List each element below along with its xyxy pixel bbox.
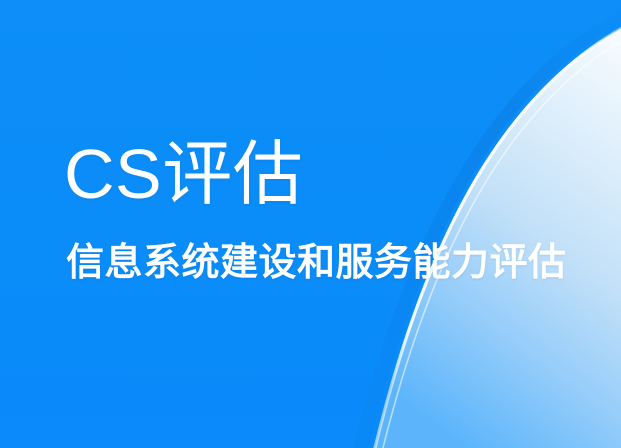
cs-assessment-banner: CS评估 信息系统建设和服务能力评估 xyxy=(0,0,621,448)
decorative-arc-swoosh xyxy=(0,0,621,448)
